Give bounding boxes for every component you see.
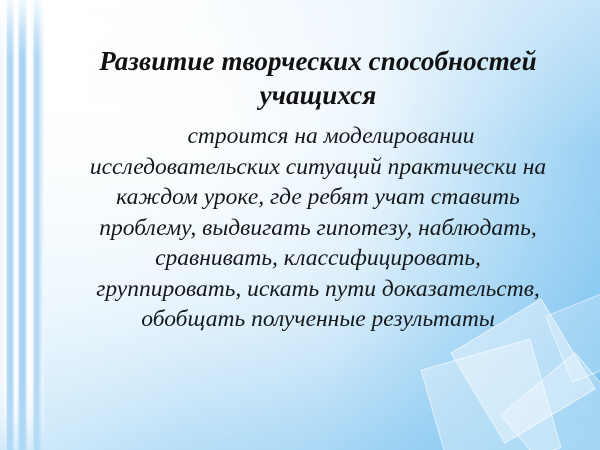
- presentation-slide: Развитие творческих способностей учащихс…: [0, 0, 600, 450]
- body-line-5: сравнивать, классифицировать,: [58, 243, 578, 274]
- body-line-1: строится на моделировании: [58, 121, 578, 152]
- left-stripe-top-fade: [0, 0, 44, 60]
- body-line-7: обобщать полученные результаты: [58, 304, 578, 335]
- body-line-3: каждом уроке, где ребят учат ставить: [58, 182, 578, 213]
- body-line-2: исследовательских ситуаций практически н…: [58, 152, 578, 183]
- slide-body-text: строится на моделировании исследовательс…: [58, 121, 578, 335]
- left-stripe-bottom-fade: [0, 380, 44, 450]
- slide-title: Развитие творческих способностей учащихс…: [58, 44, 578, 112]
- body-line-6: группировать, искать пути доказательств,: [58, 274, 578, 305]
- slide-text-container: Развитие творческих способностей учащихс…: [44, 0, 600, 450]
- body-line-4: проблему, выдвигать гипотезу, наблюдать,: [58, 213, 578, 244]
